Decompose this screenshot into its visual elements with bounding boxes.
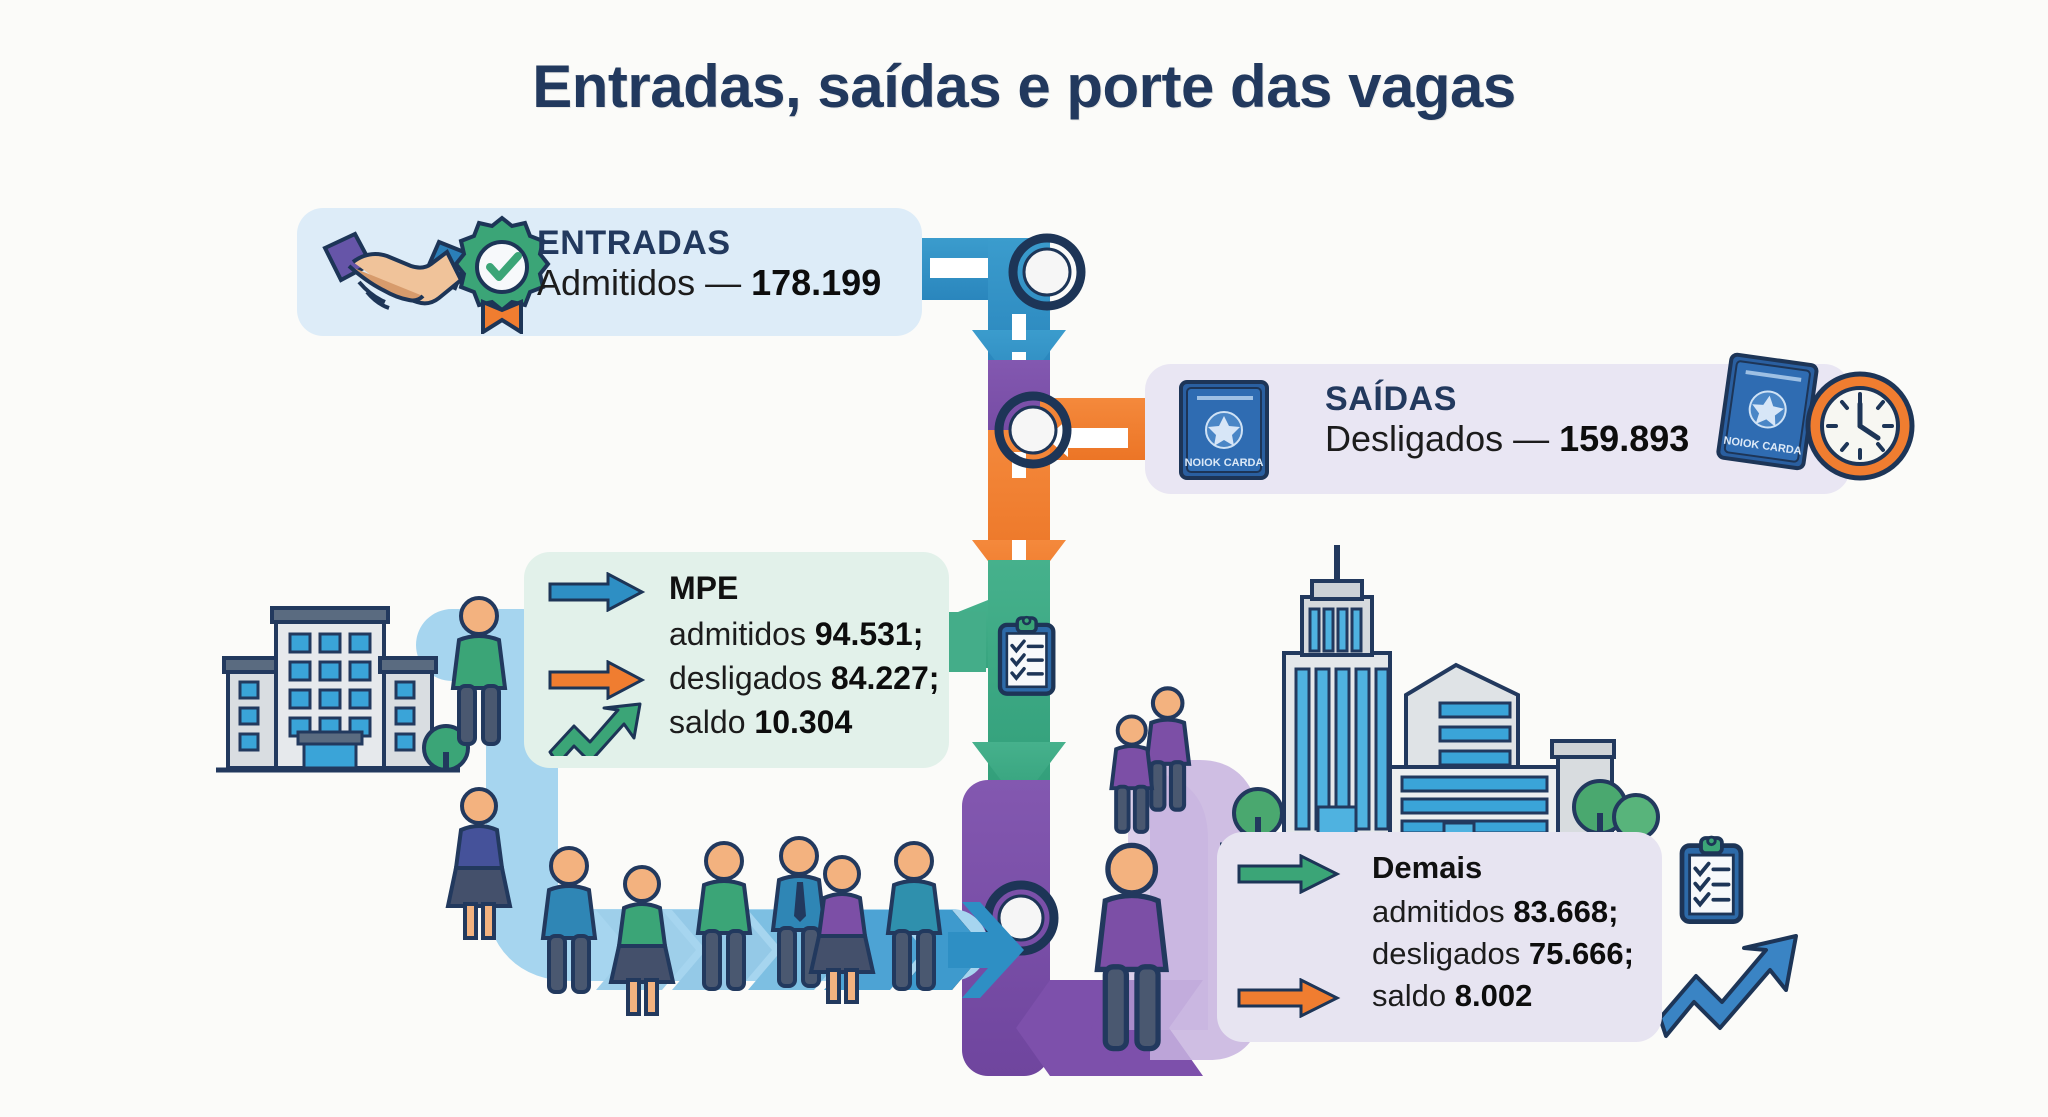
demais-label-admitidos: admitidos (1372, 894, 1505, 929)
mpe-label-desligados: desligados (669, 660, 822, 696)
demais-row-saldo: saldo 8.002 (1372, 978, 1532, 1014)
saidas-heading: SAÍDAS (1325, 380, 1457, 419)
mpe-heading: MPE (669, 570, 738, 607)
work-card-icon: NOIOK CARDA (1171, 378, 1289, 482)
blue-arrow-icon (548, 572, 648, 612)
saidas-label: Desligados — (1325, 418, 1549, 459)
mpe-label-saldo: saldo (669, 704, 746, 740)
green-arrow-icon (1237, 854, 1347, 894)
trend-up-icon (1660, 936, 1796, 1036)
flow-segment-orange-out (972, 398, 1158, 602)
entrada-node (1013, 238, 1081, 306)
flow-segment-purple-bottom (962, 780, 1203, 1076)
entradas-value: 178.199 (751, 262, 881, 303)
city-skyline-icon (1220, 545, 1658, 845)
mpe-row-desligados: desligados 84.227; (669, 660, 939, 697)
infographic-canvas: Entradas, saídas e porte das vagas (0, 0, 2048, 1117)
orange-arrow-icon-demais (1237, 978, 1347, 1018)
flow-segment-purple-mid (988, 360, 1050, 470)
page-title: Entradas, saídas e porte das vagas (0, 52, 2048, 121)
clipboard-check-icon (1000, 617, 1053, 694)
mpe-row-saldo: saldo 10.304 (669, 704, 852, 741)
people-row (543, 838, 940, 1014)
demais-value-desligados: 75.666; (1529, 936, 1634, 971)
work-card-text: NOIOK CARDA (1185, 457, 1264, 469)
clipboard-check-icon-right (1682, 837, 1741, 922)
mpe-label-admitidos: admitidos (669, 616, 806, 652)
mpe-value-desligados: 84.227; (831, 660, 940, 696)
people-right (1097, 688, 1189, 1048)
saida-node (999, 396, 1067, 464)
flow-segment-blue-in (905, 238, 1066, 392)
orange-arrow-icon (548, 660, 648, 700)
entradas-value-line: Admitidos — 178.199 (537, 262, 881, 304)
saidas-value: 159.893 (1559, 418, 1689, 459)
card-saidas[interactable]: NOIOK CARDA NOIOK CARDA (1145, 364, 1850, 494)
porte-node (988, 885, 1054, 951)
saidas-value-line: Desligados — 159.893 (1325, 418, 1689, 460)
demais-value-saldo: 8.002 (1455, 978, 1533, 1013)
card-demais[interactable]: Demais admitidos 83.668; desligados 75.6… (1217, 832, 1662, 1042)
mpe-value-admitidos: 94.531; (815, 616, 924, 652)
demais-label-saldo: saldo (1372, 978, 1446, 1013)
work-card-and-clock-icon: NOIOK CARDA (1700, 344, 1930, 514)
mpe-row-admitidos: admitidos 94.531; (669, 616, 923, 653)
clock-icon (1808, 374, 1912, 478)
small-office-building-icon (216, 608, 468, 770)
demais-row-desligados: desligados 75.666; (1372, 936, 1634, 972)
demais-value-admitidos: 83.668; (1513, 894, 1618, 929)
entradas-label: Admitidos — (537, 262, 741, 303)
people-vertical (448, 598, 510, 938)
flow-diagram-layer (0, 0, 2048, 1117)
entradas-heading: ENTRADAS (537, 224, 731, 263)
demais-heading: Demais (1372, 850, 1482, 886)
card-mpe[interactable]: MPE admitidos 94.531; desligados 84.227;… (524, 552, 949, 768)
card-entradas[interactable]: ENTRADAS Admitidos — 178.199 (297, 208, 922, 336)
demais-label-desligados: desligados (1372, 936, 1520, 971)
demais-row-admitidos: admitidos 83.668; (1372, 894, 1618, 930)
green-trend-icon (548, 702, 648, 756)
mpe-value-saldo: 10.304 (754, 704, 852, 740)
